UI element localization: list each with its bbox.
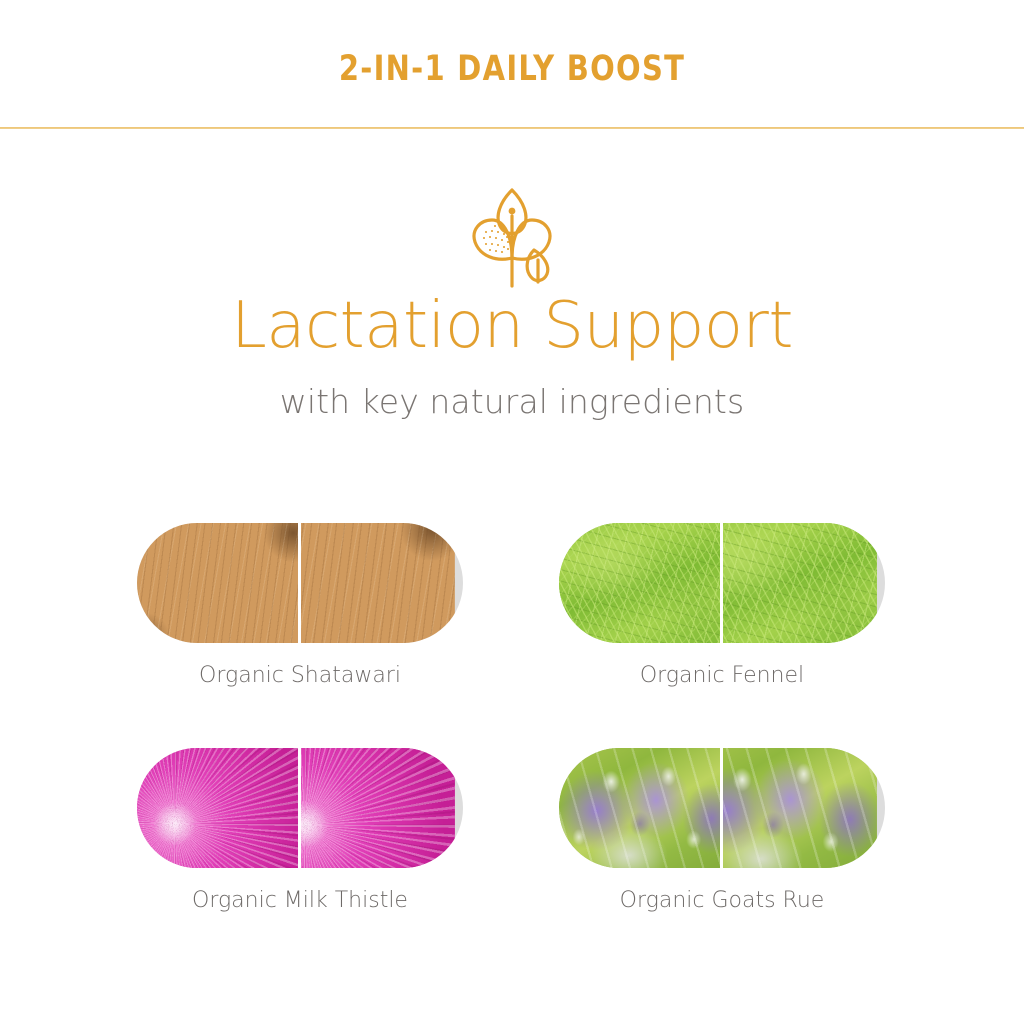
header-banner: 2-IN-1 DAILY BOOST [0, 0, 1024, 129]
capsule-divider [298, 523, 301, 643]
capsule-half-right [722, 523, 885, 643]
capsule-half-left [559, 523, 722, 643]
ingredient-card-shatawari[interactable]: Organic Shatawari [137, 523, 463, 687]
ingredient-photo-fennel [722, 523, 877, 643]
ingredient-photo-goats-rue [722, 748, 877, 868]
page-title: Lactation Support [0, 294, 1024, 358]
ingredient-label: Organic Goats Rue [559, 890, 885, 912]
capsule-half-left [137, 523, 300, 643]
ingredient-label: Organic Shatawari [137, 665, 463, 687]
ingredient-card-milk-thistle[interactable]: Organic Milk Thistle [137, 748, 463, 912]
capsule-half-right [722, 748, 885, 868]
ingredient-photo-milk-thistle [137, 748, 300, 868]
ingredient-grid: Organic Shatawari Organic Fennel Organic… [0, 523, 1024, 943]
capsule-image-milk-thistle [137, 748, 463, 868]
ingredient-photo-shatawari [137, 523, 300, 643]
ingredient-card-fennel[interactable]: Organic Fennel [559, 523, 885, 687]
capsule-half-right [300, 748, 463, 868]
sprout-plant-icon [462, 186, 562, 291]
ingredient-photo-milk-thistle [300, 748, 455, 868]
capsule-image-goats-rue [559, 748, 885, 868]
page-subtitle: with key natural ingredients [0, 385, 1024, 418]
ingredient-photo-fennel [559, 523, 722, 643]
capsule-half-left [559, 748, 722, 868]
capsule-divider [720, 523, 723, 643]
ingredient-label: Organic Fennel [559, 665, 885, 687]
capsule-image-shatawari [137, 523, 463, 643]
capsule-half-right [300, 523, 463, 643]
capsule-image-fennel [559, 523, 885, 643]
ingredient-photo-goats-rue [559, 748, 722, 868]
capsule-divider [720, 748, 723, 868]
header-divider-rule [0, 127, 1024, 129]
ingredient-photo-shatawari [300, 523, 455, 643]
banner-title: 2-IN-1 DAILY BOOST [41, 52, 983, 87]
capsule-divider [298, 748, 301, 868]
ingredient-card-goats-rue[interactable]: Organic Goats Rue [559, 748, 885, 912]
ingredient-label: Organic Milk Thistle [137, 890, 463, 912]
capsule-half-left [137, 748, 300, 868]
